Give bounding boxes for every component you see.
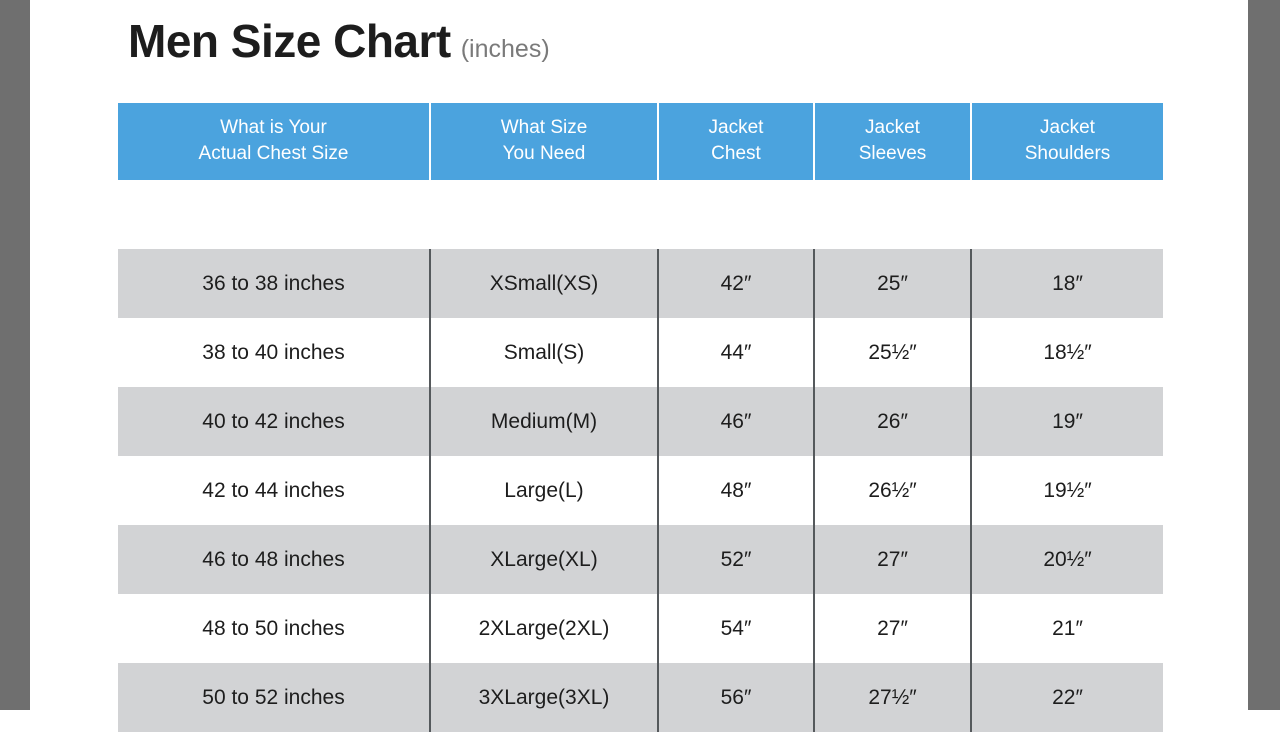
- cell-size-needed: XSmall(XS): [430, 249, 658, 318]
- cell-jacket-chest: 48″: [658, 456, 814, 525]
- column-header-jacket-sleeves: Jacket Sleeves: [814, 103, 971, 180]
- cell-jacket-sleeves: 26½″: [814, 456, 971, 525]
- cell-chest-range: 48 to 50 inches: [118, 594, 430, 663]
- header-line1: What is Your: [220, 117, 327, 138]
- column-header-jacket-shoulders: Jacket Shoulders: [971, 103, 1163, 180]
- cell-chest-range: 46 to 48 inches: [118, 525, 430, 594]
- cell-size-needed: Small(S): [430, 318, 658, 387]
- cell-jacket-sleeves: 27½″: [814, 663, 971, 732]
- cell-size-needed: 2XLarge(2XL): [430, 594, 658, 663]
- cell-jacket-sleeves: 25½″: [814, 318, 971, 387]
- spacer-cell: [118, 180, 1163, 249]
- cell-chest-range: 42 to 44 inches: [118, 456, 430, 525]
- cell-jacket-shoulders: 20½″: [971, 525, 1163, 594]
- header-body-spacer: [118, 180, 1163, 249]
- table-row: 46 to 48 inches XLarge(XL) 52″ 27″ 20½″: [118, 525, 1163, 594]
- cell-jacket-chest: 46″: [658, 387, 814, 456]
- column-header-chest-range: What is Your Actual Chest Size: [118, 103, 430, 180]
- table-row: 48 to 50 inches 2XLarge(2XL) 54″ 27″ 21″: [118, 594, 1163, 663]
- size-chart-table: What is Your Actual Chest Size What Size…: [118, 103, 1163, 732]
- chart-page: Men Size Chart (inches) What is Your Act…: [30, 0, 1248, 710]
- header-line1: Jacket: [1040, 117, 1095, 138]
- right-letterbox-bar: [1248, 0, 1280, 710]
- header-line1: Jacket: [865, 117, 920, 138]
- column-header-size-needed: What Size You Need: [430, 103, 658, 180]
- table-row: 42 to 44 inches Large(L) 48″ 26½″ 19½″: [118, 456, 1163, 525]
- cell-jacket-shoulders: 18½″: [971, 318, 1163, 387]
- cell-jacket-sleeves: 25″: [814, 249, 971, 318]
- table-row: 38 to 40 inches Small(S) 44″ 25½″ 18½″: [118, 318, 1163, 387]
- header-line2: Chest: [711, 143, 761, 164]
- header-line2: Shoulders: [1025, 143, 1111, 164]
- cell-size-needed: Medium(M): [430, 387, 658, 456]
- header-line2: Sleeves: [859, 143, 927, 164]
- cell-jacket-shoulders: 21″: [971, 594, 1163, 663]
- cell-jacket-shoulders: 18″: [971, 249, 1163, 318]
- header-line1: What Size: [501, 117, 588, 138]
- cell-chest-range: 36 to 38 inches: [118, 249, 430, 318]
- table-row: 40 to 42 inches Medium(M) 46″ 26″ 19″: [118, 387, 1163, 456]
- cell-jacket-shoulders: 19½″: [971, 456, 1163, 525]
- page-title: Men Size Chart (inches): [128, 18, 550, 64]
- table-row: 36 to 38 inches XSmall(XS) 42″ 25″ 18″: [118, 249, 1163, 318]
- left-letterbox-bar: [0, 0, 30, 710]
- cell-chest-range: 38 to 40 inches: [118, 318, 430, 387]
- header-line2: You Need: [503, 143, 586, 164]
- cell-size-needed: 3XLarge(3XL): [430, 663, 658, 732]
- cell-jacket-chest: 52″: [658, 525, 814, 594]
- cell-jacket-shoulders: 22″: [971, 663, 1163, 732]
- cell-chest-range: 50 to 52 inches: [118, 663, 430, 732]
- table-header-row: What is Your Actual Chest Size What Size…: [118, 103, 1163, 180]
- cell-jacket-chest: 54″: [658, 594, 814, 663]
- page-title-units: (inches): [461, 37, 550, 62]
- table-row: 50 to 52 inches 3XLarge(3XL) 56″ 27½″ 22…: [118, 663, 1163, 732]
- page-title-main: Men Size Chart: [128, 18, 451, 64]
- cell-jacket-chest: 44″: [658, 318, 814, 387]
- column-header-jacket-chest: Jacket Chest: [658, 103, 814, 180]
- cell-size-needed: XLarge(XL): [430, 525, 658, 594]
- cell-jacket-sleeves: 26″: [814, 387, 971, 456]
- cell-jacket-shoulders: 19″: [971, 387, 1163, 456]
- cell-jacket-sleeves: 27″: [814, 525, 971, 594]
- cell-jacket-sleeves: 27″: [814, 594, 971, 663]
- cell-size-needed: Large(L): [430, 456, 658, 525]
- cell-jacket-chest: 56″: [658, 663, 814, 732]
- cell-jacket-chest: 42″: [658, 249, 814, 318]
- cell-chest-range: 40 to 42 inches: [118, 387, 430, 456]
- header-line1: Jacket: [709, 117, 764, 138]
- header-line2: Actual Chest Size: [199, 143, 349, 164]
